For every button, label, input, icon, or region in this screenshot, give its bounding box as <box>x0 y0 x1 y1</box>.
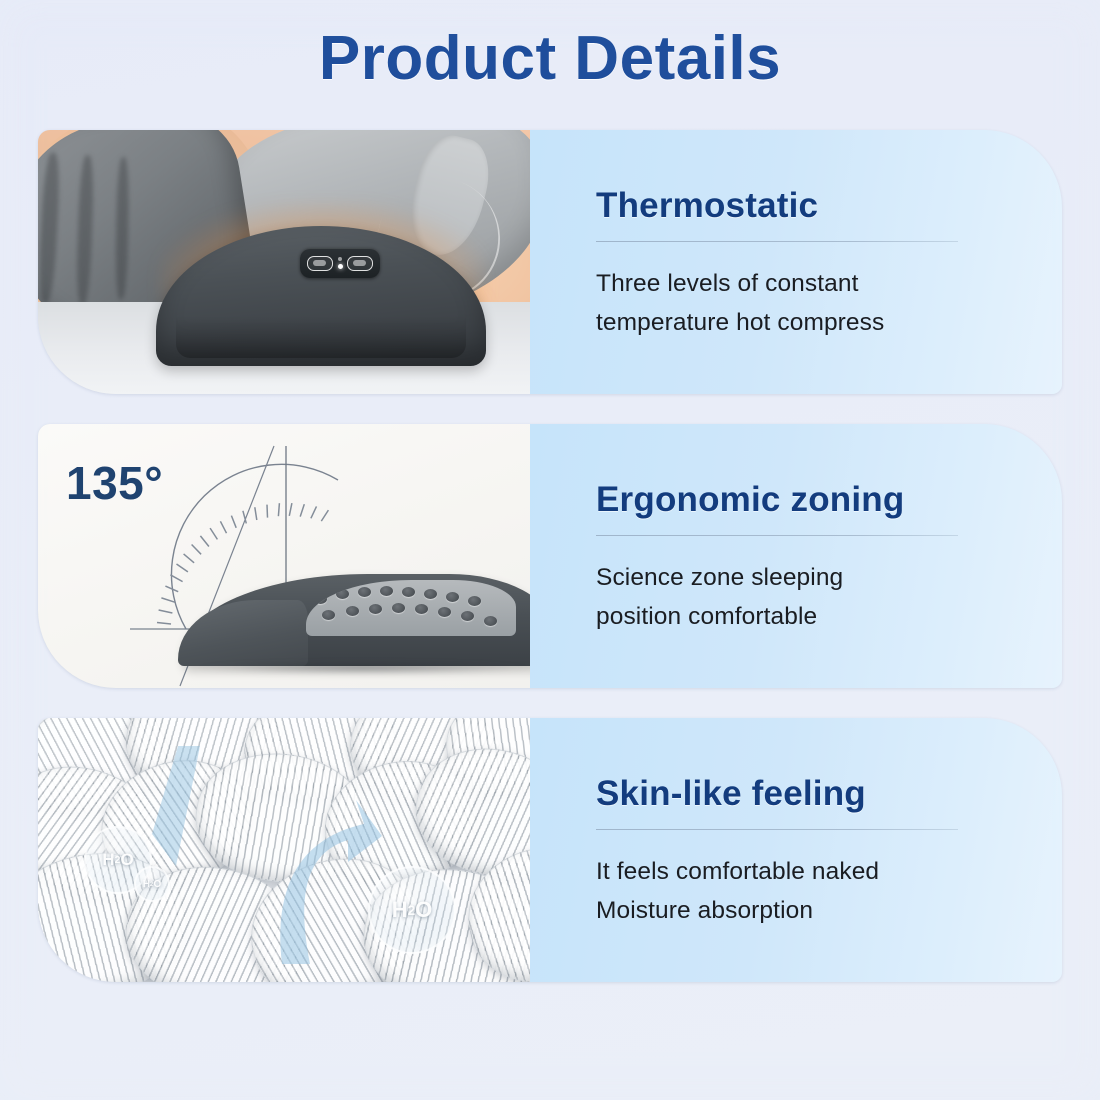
card-body-line: temperature hot compress <box>596 303 1062 343</box>
hood-fold <box>75 155 94 305</box>
angle-label: 135° <box>66 456 163 510</box>
card-heading-skin-like-feeling: Skin-like feeling <box>596 776 1062 813</box>
h2o-bubble-large: H2O <box>368 866 456 954</box>
card-body-ergonomic-zoning: Science zone sleeping position comfortab… <box>596 558 1062 637</box>
fabric-fiber-macro: H2O H2O H2O <box>38 718 530 982</box>
card-body-line: It feels comfortable naked <box>596 852 1062 892</box>
card-text-panel-skin-like-feeling: Skin-like feeling It feels comfortable n… <box>530 718 1062 982</box>
card-body-line: Moisture absorption <box>596 891 1062 931</box>
card-body-thermostatic: Three levels of constant temperature hot… <box>596 264 1062 343</box>
control-pad <box>300 248 380 278</box>
heat-button-icon <box>307 256 333 271</box>
massage-button-icon <box>347 256 373 271</box>
feature-card-thermostatic: Thermostatic Three levels of constant te… <box>38 130 1062 394</box>
card-image-skin-like-feeling: H2O H2O H2O <box>38 718 530 982</box>
feature-card-skin-like-feeling: H2O H2O H2O Skin-like feeling It feels c… <box>38 718 1062 982</box>
pillow-shadow <box>176 316 466 358</box>
card-body-line: Three levels of constant <box>596 264 1062 304</box>
card-image-thermostatic <box>38 130 530 394</box>
card-image-ergonomic-zoning: 135° <box>38 424 530 688</box>
angle-diagram: 135° <box>38 424 530 688</box>
page-title: Product Details <box>0 0 1100 90</box>
feature-card-ergonomic-zoning: 135° Ergonomic zoning Science zone sleep… <box>38 424 1062 688</box>
moisture-arrow-up-icon <box>244 778 384 968</box>
heading-divider <box>596 535 958 536</box>
card-text-panel-thermostatic: Thermostatic Three levels of constant te… <box>530 130 1062 394</box>
card-body-skin-like-feeling: It feels comfortable naked Moisture abso… <box>596 852 1062 931</box>
heading-divider <box>596 241 958 242</box>
led-indicator-icon <box>338 257 343 269</box>
heading-divider <box>596 829 958 830</box>
neck-pillow-photo <box>38 130 530 394</box>
card-body-line: Science zone sleeping <box>596 558 1062 598</box>
card-body-line: position comfortable <box>596 597 1062 637</box>
card-heading-thermostatic: Thermostatic <box>596 188 1062 225</box>
card-heading-ergonomic-zoning: Ergonomic zoning <box>596 482 1062 519</box>
feature-card-list: Thermostatic Three levels of constant te… <box>38 130 1062 982</box>
hood-fold <box>38 152 61 303</box>
hood-fold <box>115 157 129 299</box>
pillow-drop-shadow <box>198 662 528 674</box>
card-text-panel-ergonomic-zoning: Ergonomic zoning Science zone sleeping p… <box>530 424 1062 688</box>
h2o-bubble-tiny: H2O <box>134 866 170 902</box>
